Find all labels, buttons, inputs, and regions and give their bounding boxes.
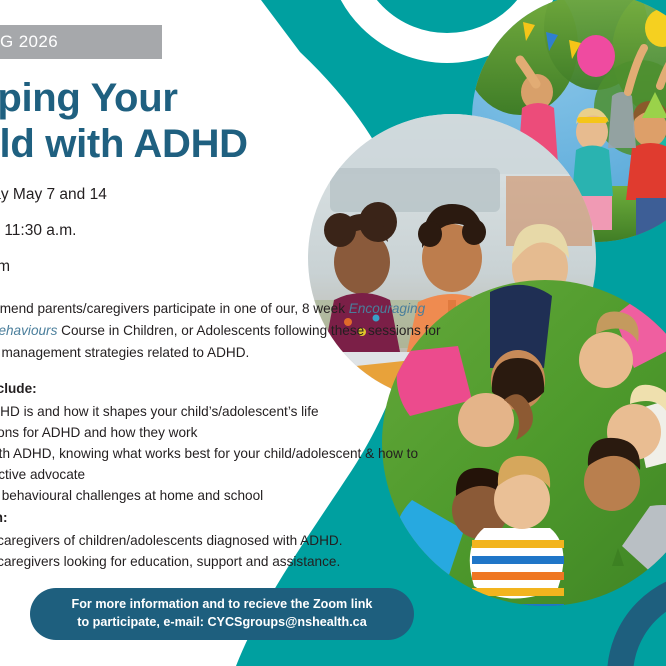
- title-line-2: Child with ADHD: [0, 122, 456, 168]
- poster-canvas: SPRING 2026 Helping Your Child with ADHD…: [0, 0, 666, 666]
- cta-line-1: For more information and to recieve the …: [72, 596, 373, 614]
- page-title: Helping Your Child with ADHD: [0, 76, 456, 167]
- event-details: Thursday May 7 and 14 10:30 to 11:30 a.m…: [0, 186, 404, 294]
- cta-line-2: to participate, e-mail: CYCSgroups@nshea…: [72, 614, 373, 632]
- event-location: Via Zoom: [0, 258, 404, 276]
- intro-paragraph: We recommend parents/caregivers particip…: [0, 298, 448, 364]
- intro-before: We recommend parents/caregivers particip…: [0, 301, 349, 316]
- photo-children-playing-with-balloons: [462, 0, 666, 246]
- topics-item: • What ADHD is and how it shapes your ch…: [0, 401, 458, 422]
- season-badge: SPRING 2026: [0, 25, 162, 59]
- event-time: 10:30 to 11:30 a.m.: [0, 222, 404, 240]
- topics-item: • Living with ADHD, knowing what works b…: [0, 443, 458, 464]
- topics-include-heading: Topics include:: [0, 378, 458, 399]
- poster-content: SPRING 2026 Helping Your Child with ADHD…: [0, 0, 452, 666]
- for-whom-heading: For whom:: [0, 507, 458, 528]
- contact-cta-button[interactable]: For more information and to recieve the …: [30, 588, 414, 640]
- for-whom-section: For whom: • Parents/caregivers of childr…: [0, 507, 458, 572]
- title-line-1: Helping Your: [0, 76, 456, 122]
- topics-item: • Medications for ADHD and how they work: [0, 422, 458, 443]
- event-dates: Thursday May 7 and 14: [0, 186, 404, 204]
- deep-blue-ring-arc: [620, 584, 666, 666]
- for-whom-item: • Parents/caregivers looking for educati…: [0, 551, 458, 572]
- topics-item: • Possible behavioural challenges at hom…: [0, 485, 458, 506]
- intro-after: Course in Children, or Adolescents follo…: [0, 323, 440, 360]
- topics-item: be an effective advocate: [0, 464, 458, 485]
- for-whom-item: • Parents/caregivers of children/adolesc…: [0, 530, 458, 551]
- topics-include-section: Topics include: • What ADHD is and how i…: [0, 378, 458, 506]
